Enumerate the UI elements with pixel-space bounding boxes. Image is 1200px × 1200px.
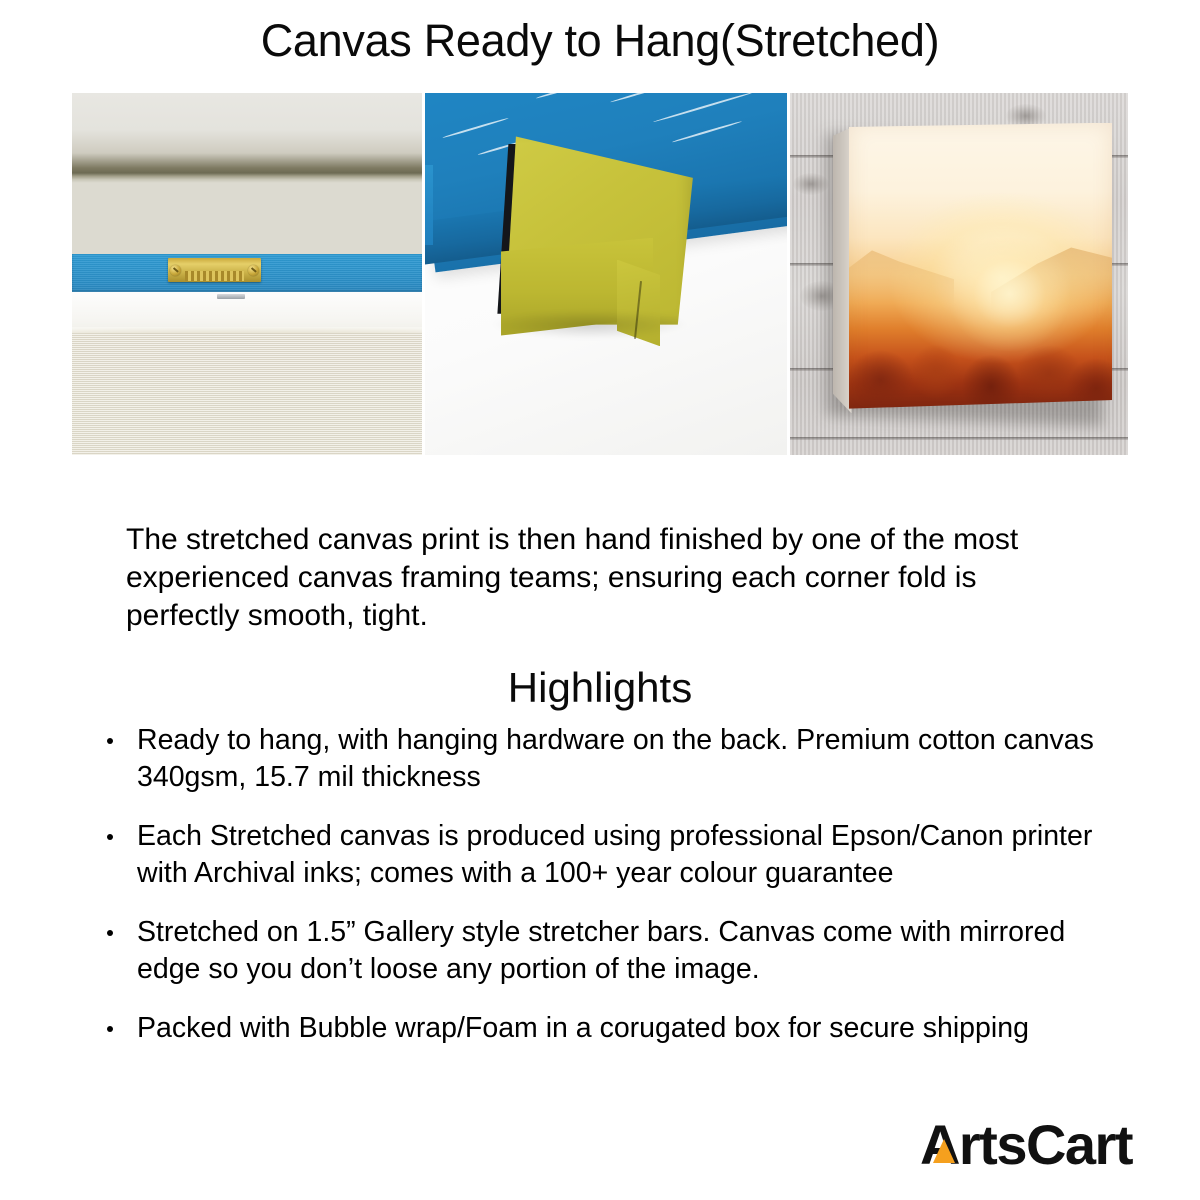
- logo-triangle-icon: [933, 1139, 955, 1163]
- screw-icon-left: [170, 265, 181, 276]
- screw-icon-right: [248, 265, 259, 276]
- wave-wisp: [653, 93, 755, 123]
- list-item-text: Packed with Bubble wrap/Foam in a coruga…: [137, 1012, 1029, 1044]
- bullet-icon: [107, 738, 113, 744]
- list-item: Each Stretched canvas is produced using …: [103, 818, 1113, 892]
- wave-wisp: [442, 117, 509, 138]
- highlights-heading: Highlights: [0, 663, 1200, 713]
- image-corner-fold: [425, 93, 787, 455]
- wood-knot: [793, 173, 829, 195]
- brand-logo: ArtsCart: [920, 1114, 1132, 1176]
- plank-seam: [790, 437, 1128, 440]
- product-image-strip: [72, 93, 1128, 455]
- corner-drop-shadow: [490, 310, 689, 339]
- page-title: Canvas Ready to Hang(Stretched): [0, 14, 1200, 68]
- list-item-text: Ready to hang, with hanging hardware on …: [137, 724, 1094, 793]
- image-hanging-hardware: [72, 93, 422, 455]
- canvas-mirrored-edge: [833, 127, 852, 413]
- canvas-left-slice: [425, 165, 433, 245]
- list-item: Stretched on 1.5” Gallery style stretche…: [103, 914, 1113, 988]
- sawtooth-hanger-icon: [168, 258, 261, 282]
- list-item-text: Stretched on 1.5” Gallery style stretche…: [137, 916, 1065, 985]
- hanger-clip: [217, 294, 245, 300]
- hanger-teeth: [185, 271, 244, 281]
- bullet-icon: [107, 930, 113, 936]
- canvas-printed-face: [849, 123, 1113, 409]
- bullet-icon: [107, 1026, 113, 1032]
- highlights-list: Ready to hang, with hanging hardware on …: [103, 722, 1113, 1069]
- image-wall-display: [790, 93, 1128, 455]
- intro-paragraph: The stretched canvas print is then hand …: [126, 521, 1081, 635]
- list-item: Packed with Bubble wrap/Foam in a coruga…: [103, 1010, 1113, 1047]
- wave-wisp: [672, 120, 743, 143]
- bullet-icon: [107, 834, 113, 840]
- wave-wisp: [609, 93, 695, 103]
- landscape-foliage: [849, 306, 1113, 409]
- wave-wisp: [535, 93, 590, 99]
- canvas-raw-back: [72, 333, 422, 455]
- list-item-text: Each Stretched canvas is produced using …: [137, 820, 1092, 889]
- landscape-hill-left: [849, 243, 954, 306]
- list-item: Ready to hang, with hanging hardware on …: [103, 722, 1113, 796]
